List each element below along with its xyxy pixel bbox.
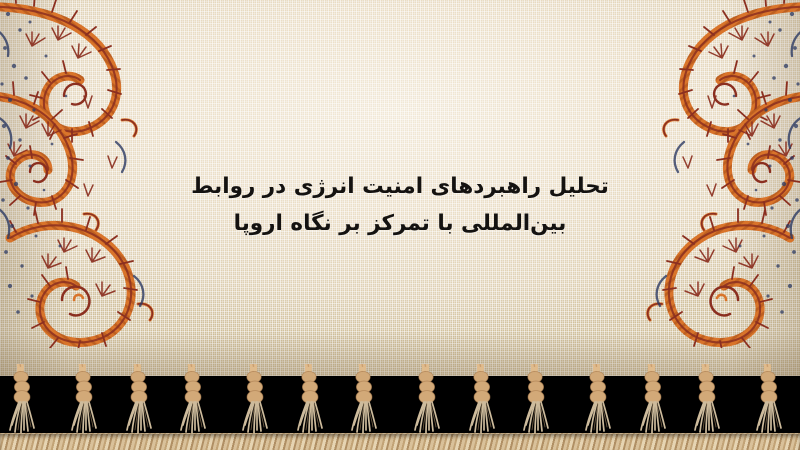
tassel xyxy=(123,364,163,450)
tassel xyxy=(180,364,220,450)
tassel xyxy=(237,364,277,450)
tassel xyxy=(637,364,677,450)
tassel-fringe xyxy=(0,364,800,450)
tassel xyxy=(66,364,106,450)
tassel xyxy=(294,364,334,450)
tassel xyxy=(580,364,620,450)
tassel xyxy=(351,364,391,450)
tassel xyxy=(466,364,506,450)
tassel xyxy=(9,364,49,450)
tassel xyxy=(751,364,791,450)
slide-canvas: تحلیل راهبردهای امنیت انرژی در روابط بین… xyxy=(0,0,800,450)
tassel xyxy=(694,364,734,450)
textile-fabric-background xyxy=(0,0,800,376)
tassel xyxy=(523,364,563,450)
tassel xyxy=(409,364,449,450)
